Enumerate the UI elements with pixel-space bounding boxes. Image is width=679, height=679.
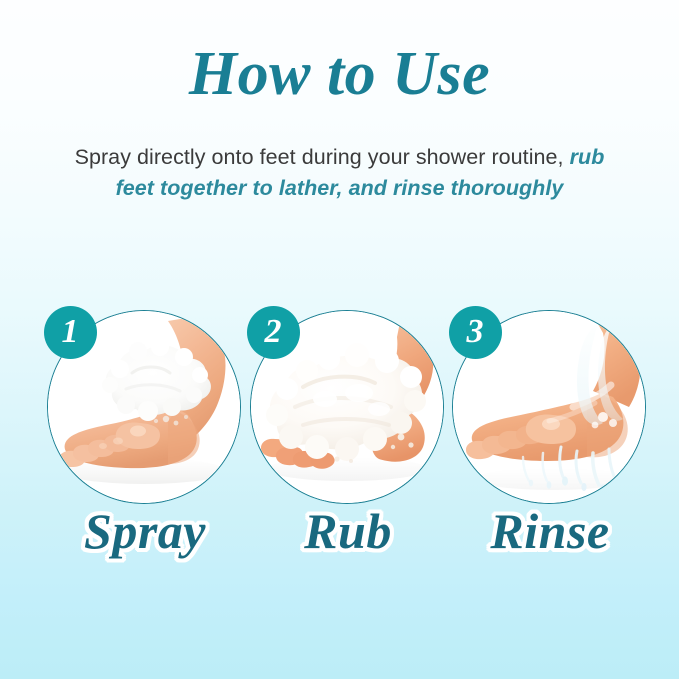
steps-row: 1 Spray xyxy=(0,306,679,586)
step-1-number: 1 xyxy=(62,315,80,351)
page-title: How to Use xyxy=(0,42,679,107)
step-1: 1 Spray xyxy=(44,306,246,586)
step-3-number-badge: 3 xyxy=(449,306,502,359)
step-2-number: 2 xyxy=(265,315,283,351)
step-2-caption: Rub xyxy=(233,504,463,559)
step-1-caption: Spray xyxy=(30,504,260,559)
step-2-number-badge: 2 xyxy=(247,306,300,359)
step-3-number: 3 xyxy=(467,315,485,351)
intro-plain-text: Spray directly onto feet during your sho… xyxy=(75,145,564,169)
step-3-caption: Rinse xyxy=(435,504,665,559)
how-to-use-infographic: How to Use Spray directly onto feet duri… xyxy=(0,0,679,679)
intro-paragraph: Spray directly onto feet during your sho… xyxy=(70,142,609,204)
step-1-number-badge: 1 xyxy=(44,306,97,359)
step-3: 3 Rinse xyxy=(449,306,651,586)
step-2: 2 Rub xyxy=(247,306,449,586)
